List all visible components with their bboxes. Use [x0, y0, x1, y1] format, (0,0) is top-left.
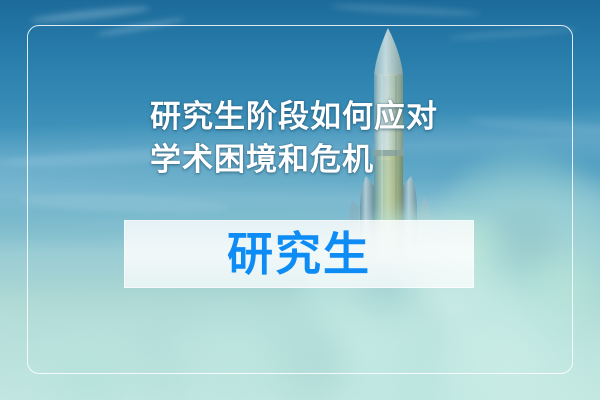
banner-title: 研究生阶段如何应对 学术困境和危机 — [150, 96, 450, 182]
keyword-text: 研究生 — [227, 231, 371, 277]
color-tint-overlay — [0, 0, 600, 400]
banner: 研究生阶段如何应对 学术困境和危机 研究生 — [0, 0, 600, 400]
background-image — [0, 0, 600, 400]
keyword-highlight-band: 研究生 — [124, 220, 474, 288]
